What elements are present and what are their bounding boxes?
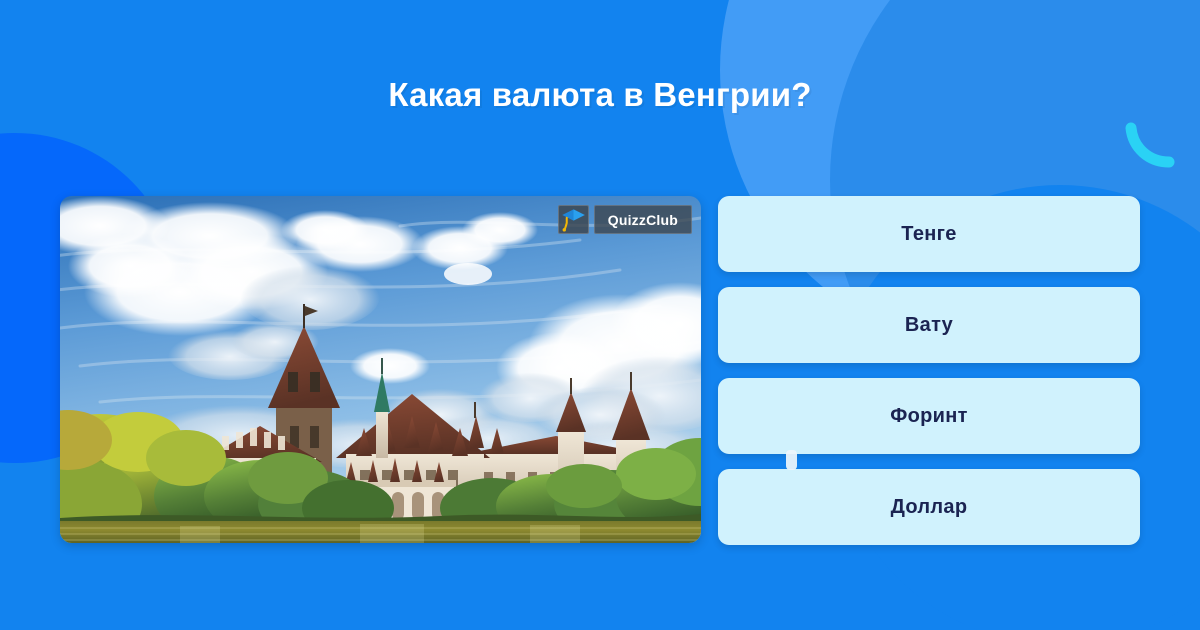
answer-option-3[interactable]: Форинт xyxy=(718,378,1140,454)
answer-option-3-label: Форинт xyxy=(890,405,967,428)
answer-option-2[interactable]: Вату xyxy=(718,287,1140,363)
watermark-label: QuizzClub xyxy=(594,205,692,234)
question-title: Какая валюта в Венгрии? xyxy=(0,76,1200,114)
answer-options-list: Тенге Вату Форинт Доллар xyxy=(718,196,1140,545)
castle-photo-illustration xyxy=(60,196,701,543)
watermark: QuizzClub xyxy=(558,205,692,234)
decor-arc-icon xyxy=(1123,122,1177,170)
answer-option-1-label: Тенге xyxy=(901,223,956,246)
text-cursor-artifact xyxy=(786,450,797,470)
question-image: QuizzClub xyxy=(60,196,701,543)
answer-option-4[interactable]: Доллар xyxy=(718,469,1140,545)
answer-option-1[interactable]: Тенге xyxy=(718,196,1140,272)
graduation-cap-icon xyxy=(558,205,589,234)
quiz-card: Какая валюта в Венгрии? xyxy=(0,0,1200,630)
answer-option-4-label: Доллар xyxy=(891,496,968,519)
answer-option-2-label: Вату xyxy=(905,314,953,337)
